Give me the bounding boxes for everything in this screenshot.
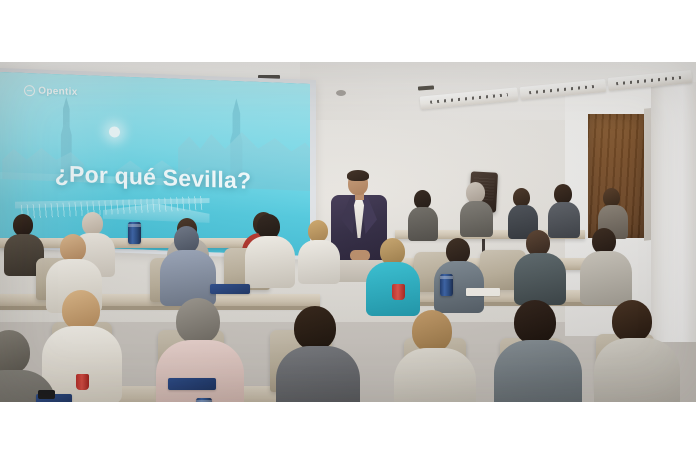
led-dots-icon — [529, 85, 598, 95]
phone — [38, 390, 55, 399]
person-torso — [460, 201, 493, 237]
person-head — [174, 226, 199, 253]
person-torso — [580, 251, 632, 305]
led-dots-icon — [616, 76, 683, 85]
blue-folder — [210, 284, 250, 294]
red-cup — [76, 374, 89, 390]
person-torso — [494, 340, 582, 402]
person-head — [514, 300, 556, 344]
person-torso — [156, 340, 244, 402]
photo-frame: Opentix ¿Por qué Sevilla? — [0, 0, 696, 464]
person-torso — [548, 202, 580, 238]
person-head — [60, 234, 86, 262]
person-torso — [394, 348, 476, 402]
person-head — [62, 290, 100, 330]
opentix-logo-text: Opentix — [38, 86, 77, 98]
person-head — [308, 220, 328, 242]
person-torso — [160, 250, 216, 306]
circle-o-icon — [24, 85, 35, 96]
person-torso — [594, 338, 680, 402]
person-head — [176, 298, 220, 344]
person-torso — [276, 346, 360, 402]
paper-notes — [466, 288, 500, 296]
presenter-hair — [347, 170, 369, 181]
red-cup — [392, 284, 405, 300]
wall-pillar — [651, 82, 696, 342]
conference-photograph: Opentix ¿Por qué Sevilla? — [0, 62, 696, 402]
person-torso — [514, 253, 566, 305]
person-torso — [408, 207, 438, 241]
person-head — [13, 214, 33, 236]
person-head — [380, 238, 405, 265]
person-head — [412, 310, 452, 352]
ceiling-spotlight-icon — [336, 90, 346, 96]
led-dots-icon — [430, 93, 508, 103]
person-torso — [298, 240, 340, 284]
opentix-logo: Opentix — [24, 85, 77, 98]
person-head — [0, 330, 30, 374]
person-head — [294, 306, 336, 350]
beverage-can — [128, 222, 141, 244]
person-head — [82, 212, 103, 235]
blue-folder — [168, 378, 216, 390]
person-head — [466, 182, 485, 203]
person-head — [612, 300, 652, 342]
person-head — [554, 184, 572, 204]
person-torso — [245, 236, 295, 288]
beverage-can — [440, 274, 453, 296]
beverage-can — [196, 398, 212, 402]
slide-sun-icon — [109, 126, 120, 137]
